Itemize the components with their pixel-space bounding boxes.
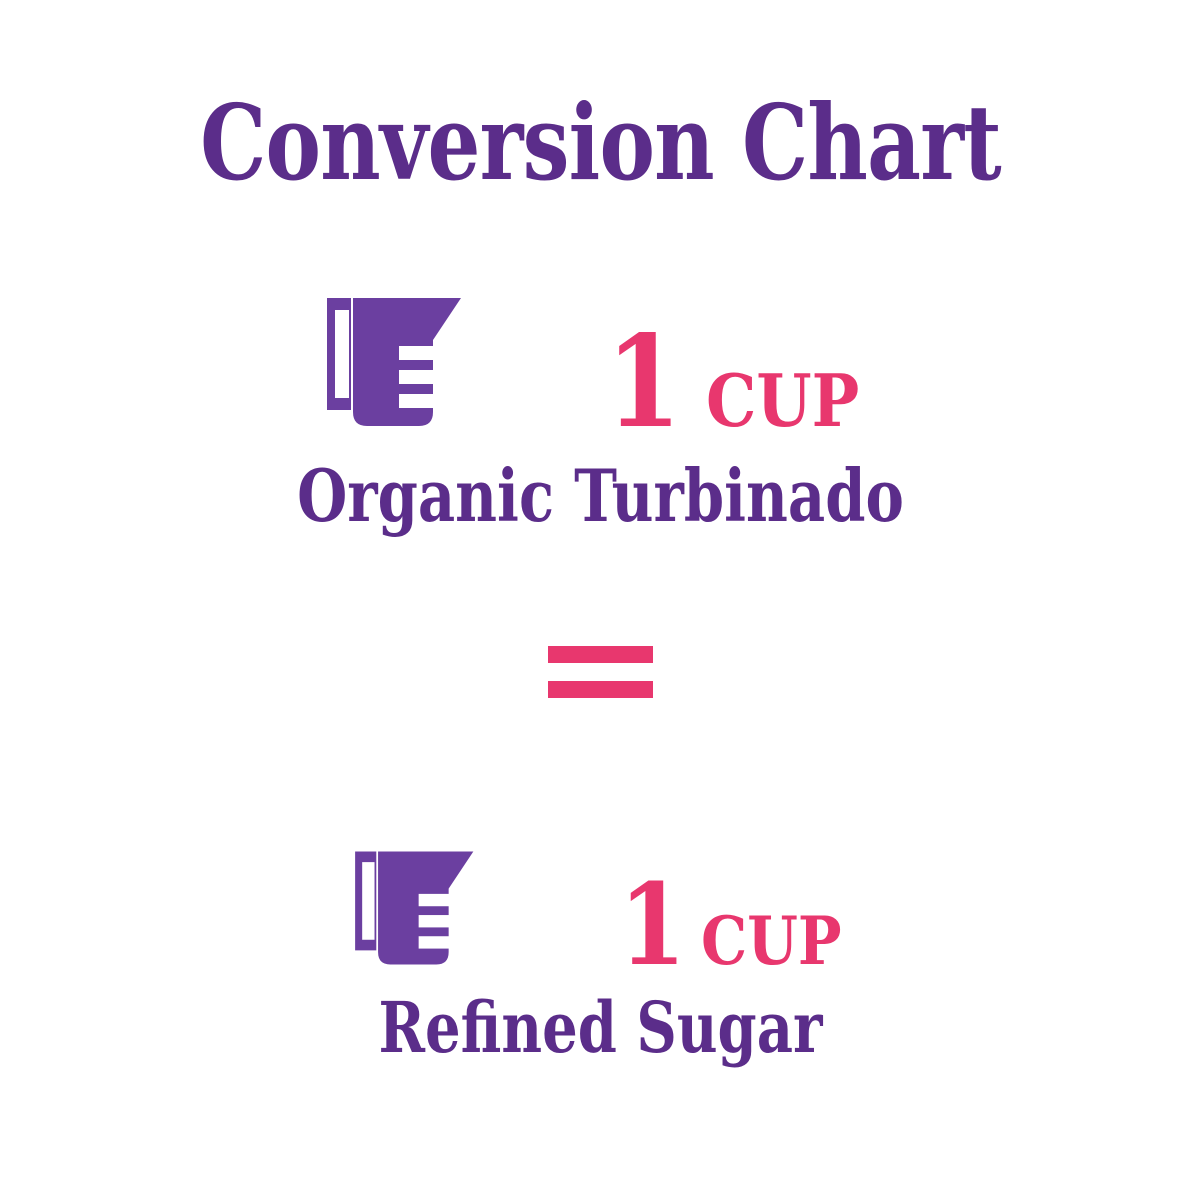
amount-bottom: 1 CUP <box>619 876 861 976</box>
equals-bar-bottom <box>548 681 653 698</box>
unit-label-bottom: CUP <box>701 908 842 974</box>
measuring-cup-icon <box>341 848 491 968</box>
quantity-value-bottom: 1 <box>619 876 686 976</box>
conversion-row-bottom: 1 CUP <box>0 826 1201 976</box>
equals-sign <box>548 646 653 698</box>
measuring-cup-icon <box>321 294 471 430</box>
conversion-row-top: 1 CUP <box>0 288 1201 438</box>
conversion-chart-canvas: Conversion Chart 1 CUP Organic Turbinado <box>0 0 1201 1201</box>
unit-label-top: CUP <box>706 365 859 437</box>
amount-top: 1 CUP <box>606 326 880 438</box>
page-title: Conversion Chart <box>120 88 1081 198</box>
quantity-value-top: 1 <box>606 326 681 438</box>
ingredient-name-bottom: Refined Sugar <box>120 988 1081 1068</box>
ingredient-name-top: Organic Turbinado <box>120 455 1081 537</box>
equals-bar-top <box>548 646 653 663</box>
